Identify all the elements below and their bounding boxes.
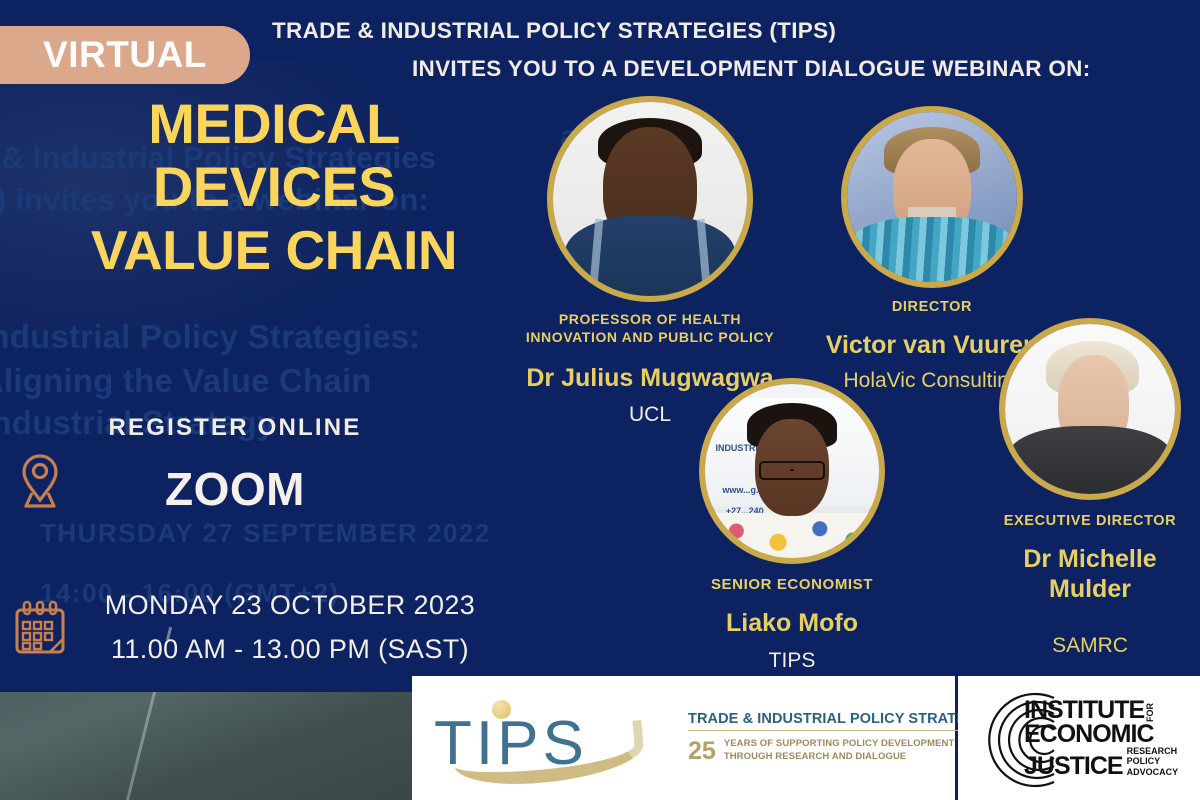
avatar: INDUSTRIAL www...g.za +27...240 — [699, 378, 885, 564]
avatar — [999, 318, 1181, 500]
tips-years-sub-1: YEARS OF SUPPORTING POLICY DEVELOPMENT — [724, 738, 955, 751]
tips-dot-icon — [492, 700, 511, 719]
header-line-1: TRADE & INDUSTRIAL POLICY STRATEGIES (TI… — [272, 18, 836, 44]
tips-logo-text: TRADE & INDUSTRIAL POLICY STRATEGIES 25 … — [672, 711, 1001, 766]
speaker-org: SAMRC — [980, 633, 1200, 659]
speaker-org: TIPS — [672, 648, 912, 674]
speaker-card-mofo: INDUSTRIAL www...g.za +27...240 SENIOR E… — [672, 378, 912, 674]
location-pin-icon — [8, 448, 72, 512]
virtual-badge: VIRTUAL — [0, 26, 250, 84]
iej-line-1: INSTITUTE — [1024, 698, 1144, 722]
speaker-name: Liako Mofo — [672, 608, 912, 639]
calendar-icon — [8, 597, 72, 661]
iej-sub-1: RESEARCH — [1127, 746, 1179, 756]
ghost-text-line: Aligning the Value Chain — [0, 362, 372, 400]
iej-for-label: FOR — [1146, 703, 1155, 722]
tips-tagline: TRADE & INDUSTRIAL POLICY STRATEGIES — [688, 711, 1001, 731]
avatar — [547, 96, 753, 302]
avatar — [841, 106, 1023, 288]
event-time: 11.00 AM - 13.00 PM (SAST) — [80, 634, 500, 665]
page-title: MEDICAL DEVICES VALUE CHAIN — [0, 92, 548, 281]
speaker-card-mulder: EXECUTIVE DIRECTOR Dr Michelle Mulder SA… — [980, 318, 1200, 659]
title-line-3: VALUE CHAIN — [0, 219, 548, 281]
speaker-role: SENIOR ECONOMIST — [672, 575, 912, 594]
title-line-1: MEDICAL — [0, 92, 548, 155]
iej-logo: INSTITUTE FOR ECONOMIC JUSTICE RESEARCH … — [958, 676, 1200, 800]
tips-logo-letters: TIPS — [434, 708, 588, 779]
ghost-text-line: THURSDAY 27 SEPTEMBER 2022 — [40, 518, 491, 549]
iej-line-2: ECONOMIC — [1024, 722, 1178, 746]
title-line-2: DEVICES — [0, 155, 548, 218]
tips-logo: TIPS TRADE & INDUSTRIAL POLICY STRATEGIE… — [412, 676, 955, 800]
tips-years-sub-2: THROUGH RESEARCH AND DIALOGUE — [724, 751, 955, 764]
header-line-2: INVITES YOU TO A DEVELOPMENT DIALOGUE WE… — [412, 56, 1091, 82]
tips-logomark: TIPS — [430, 690, 658, 786]
speaker-name: Dr Michelle Mulder — [980, 544, 1200, 605]
tips-years-number: 25 — [688, 737, 716, 766]
speaker-role: PROFESSOR OF HEALTH INNOVATION AND PUBLI… — [520, 311, 780, 347]
event-date: MONDAY 23 OCTOBER 2023 — [80, 590, 500, 621]
webinar-poster: e & Industrial Policy Strategies S) invi… — [0, 0, 1200, 800]
register-online-label: REGISTER ONLINE — [0, 414, 470, 442]
virtual-badge-label: VIRTUAL — [31, 34, 207, 76]
iej-line-3: JUSTICE — [1024, 754, 1123, 778]
speaker-role: DIRECTOR — [812, 298, 1052, 317]
iej-sub-2: POLICY — [1127, 756, 1179, 766]
speaker-role: EXECUTIVE DIRECTOR — [980, 512, 1200, 531]
iej-sub-3: ADVOCACY — [1127, 767, 1179, 777]
